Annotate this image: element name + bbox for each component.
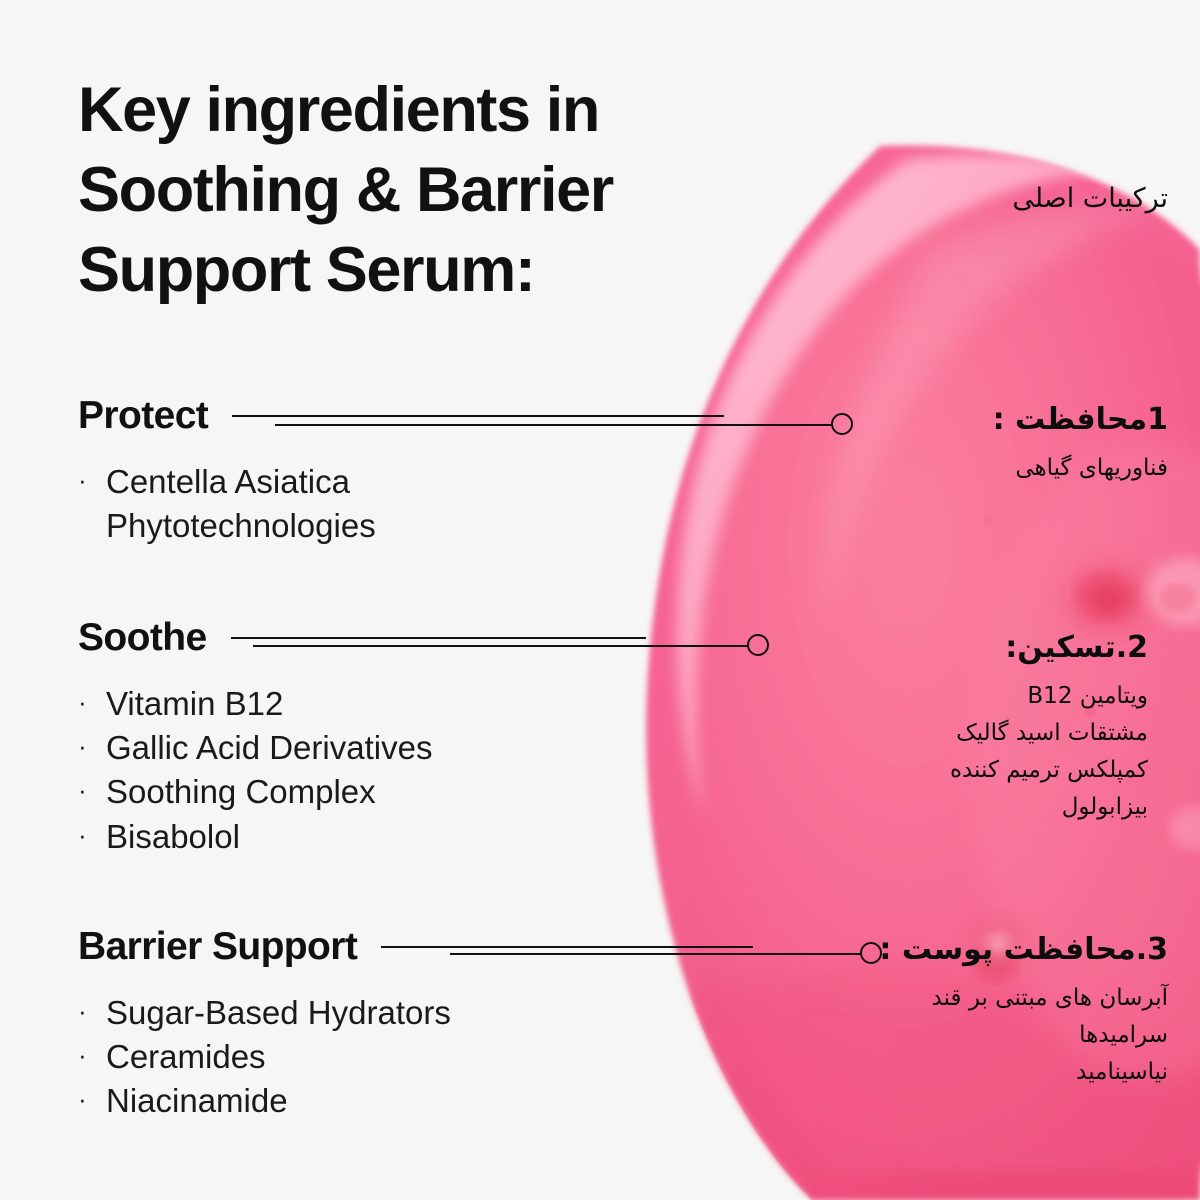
section-heading-row: Soothe — [78, 616, 646, 660]
list-item: · Ceramides — [78, 1035, 753, 1079]
bullet-icon: · — [78, 682, 106, 722]
farsi-heading-1: 1محافظت : — [993, 400, 1168, 441]
section-heading-protect: Protect — [78, 394, 208, 438]
farsi-heading-3: 3.محافظت پوست : — [879, 930, 1168, 971]
farsi-items-1: فناوریهای گیاهی — [993, 450, 1168, 487]
section-rule — [232, 415, 724, 417]
list-item: · Bisabolol — [78, 815, 646, 859]
list-item: · Centella Asiatica Phytotechnologies — [78, 460, 724, 548]
list-item-label: Gallic Acid Derivatives — [106, 726, 432, 770]
list-item-label: Ceramides — [106, 1035, 266, 1079]
title-block: Key ingredients in Soothing & Barrier Su… — [78, 70, 778, 310]
section-heading-row: Barrier Support — [78, 925, 753, 969]
section-heading-row: Protect — [78, 394, 724, 438]
infographic-canvas: Key ingredients in Soothing & Barrier Su… — [0, 0, 1200, 1200]
list-item-label: Centella Asiatica Phytotechnologies — [106, 460, 376, 548]
list-item: · Gallic Acid Derivatives — [78, 726, 646, 770]
page-title: Key ingredients in Soothing & Barrier Su… — [78, 70, 778, 310]
ingredient-list-soothe: · Vitamin B12 · Gallic Acid Derivatives … — [78, 682, 646, 859]
bullet-icon: · — [78, 726, 106, 766]
section-rule — [231, 637, 646, 639]
connector-line — [253, 645, 748, 647]
farsi-group-3: 3.محافظت پوست : آبرسان های مبتنی بر قند … — [879, 930, 1168, 1091]
list-item-label: Soothing Complex — [106, 770, 376, 814]
connector-endpoint-circle — [747, 634, 769, 656]
section-heading-barrier-support: Barrier Support — [78, 925, 357, 969]
list-item: · Soothing Complex — [78, 770, 646, 814]
list-item: · Sugar-Based Hydrators — [78, 991, 753, 1035]
ingredient-list-barrier-support: · Sugar-Based Hydrators · Ceramides · Ni… — [78, 991, 753, 1124]
farsi-heading-2: 2.تسکین: — [950, 628, 1148, 669]
connector-line — [450, 953, 861, 955]
list-item-label: Niacinamide — [106, 1079, 288, 1123]
bullet-icon: · — [78, 1079, 106, 1119]
section-heading-soothe: Soothe — [78, 616, 207, 660]
list-item-label: Sugar-Based Hydrators — [106, 991, 451, 1035]
bullet-icon: · — [78, 460, 106, 500]
section-soothe: Soothe · Vitamin B12 · Gallic Acid Deriv… — [78, 616, 646, 859]
connector-endpoint-circle — [831, 413, 853, 435]
list-item: · Vitamin B12 — [78, 682, 646, 726]
farsi-title: ترکیبات اصلی — [1012, 180, 1168, 218]
ingredient-list-protect: · Centella Asiatica Phytotechnologies — [78, 460, 724, 548]
connector-line — [275, 424, 832, 426]
bullet-icon: · — [78, 770, 106, 810]
section-rule — [381, 946, 753, 948]
bullet-icon: · — [78, 815, 106, 855]
bullet-icon: · — [78, 991, 106, 1031]
list-item-label: Vitamin B12 — [106, 682, 283, 726]
farsi-items-2: ویتامین B12 مشتقات اسید گالیک کمپلکس ترم… — [950, 678, 1148, 827]
farsi-items-3: آبرسان های مبتنی بر قند سرامیدها نیاسینا… — [879, 980, 1168, 1092]
section-protect: Protect · Centella Asiatica Phytotechnol… — [78, 394, 724, 548]
list-item-label: Bisabolol — [106, 815, 240, 859]
farsi-group-1: 1محافظت : فناوریهای گیاهی — [993, 400, 1168, 487]
farsi-group-2: 2.تسکین: ویتامین B12 مشتقات اسید گالیک ک… — [950, 628, 1148, 827]
bullet-icon: · — [78, 1035, 106, 1075]
list-item: · Niacinamide — [78, 1079, 753, 1123]
